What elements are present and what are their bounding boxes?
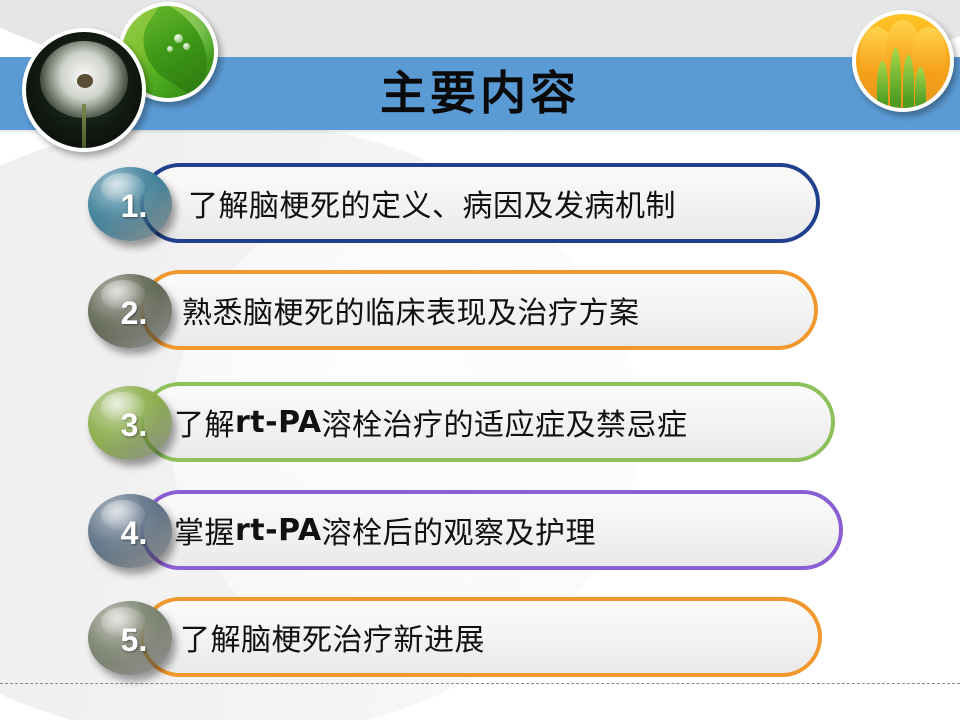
item-number-label: 5. [121, 622, 148, 659]
item-number-badge: 4. [88, 494, 172, 568]
item-number-badge: 2. [88, 274, 172, 348]
dandelion-core-shape [77, 74, 93, 88]
tulips-icon [852, 10, 954, 112]
title-band-shadow [0, 130, 960, 134]
grass-blade-shape [877, 61, 888, 112]
slide-canvas: 主要内容 1. 了解脑梗死的定义、病因及发病机制 2. [0, 0, 960, 720]
item-number-label: 3. [121, 407, 148, 444]
dandelion-stem-shape [82, 104, 86, 148]
item-number-label: 2. [121, 295, 148, 332]
item-number-badge: 1. [88, 167, 172, 241]
item-number-badge: 3. [88, 386, 172, 460]
item-number-badge: 5. [88, 601, 172, 675]
item-text: 熟悉脑梗死的临床表现及治疗方案 [182, 270, 640, 350]
dandelion-icon [22, 28, 146, 152]
item-text: 了解脑梗死的定义、病因及发病机制 [188, 163, 676, 243]
item-text: 了解rt-PA溶栓治疗的适应症及禁忌症 [174, 382, 688, 462]
dew-drop-icon [183, 43, 190, 50]
bottom-divider [0, 683, 960, 684]
dew-drop-icon [174, 34, 183, 43]
item-text: 掌握rt-PA溶栓后的观察及护理 [174, 490, 596, 570]
grass-blade-shape [890, 48, 901, 112]
item-text: 了解脑梗死治疗新进展 [180, 597, 485, 677]
grass-blade-shape [903, 55, 914, 112]
item-number-label: 4. [121, 515, 148, 552]
item-number-label: 1. [121, 188, 148, 225]
